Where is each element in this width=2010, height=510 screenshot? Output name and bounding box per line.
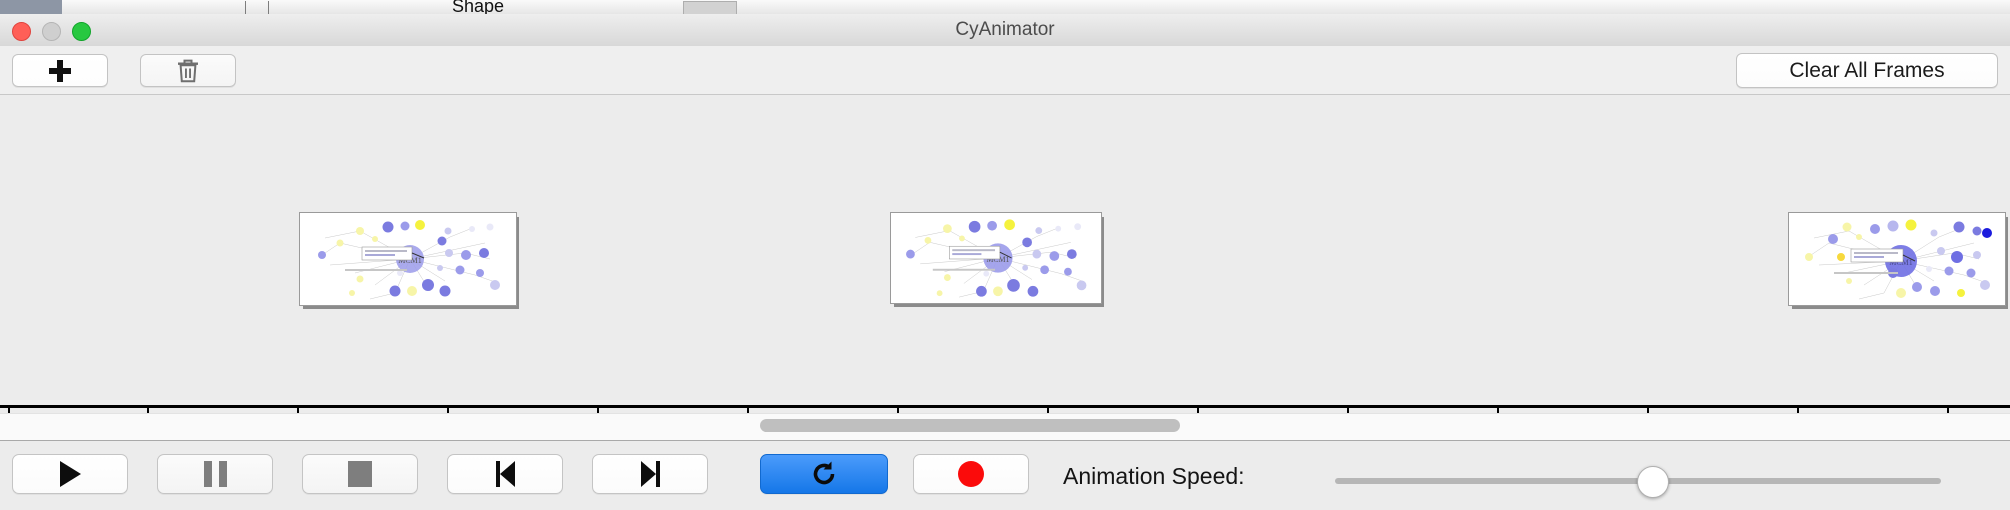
plus-icon: [49, 60, 71, 82]
frame-thumbnail-2[interactable]: MCM1: [890, 212, 1100, 302]
toolbar: Clear All Frames: [0, 46, 2010, 95]
record-button[interactable]: [913, 454, 1029, 494]
frame-thumbnail-3[interactable]: MCM1: [1788, 212, 2004, 304]
animation-speed-slider-thumb[interactable]: [1637, 466, 1669, 498]
delete-frame-button[interactable]: [140, 54, 236, 87]
background-window-segment: [307, 0, 448, 14]
frame-thumbnail-1[interactable]: MCM1: [299, 212, 515, 304]
stop-icon: [348, 461, 372, 487]
background-window-label: Shape: [452, 0, 504, 14]
background-window-segment: [1837, 0, 2010, 14]
cyanimator-window: Shape CyAnimator Clear All Frames: [0, 0, 2010, 510]
skip-next-icon: [641, 461, 660, 487]
loop-icon: [809, 459, 839, 489]
background-window-strip: Shape: [0, 0, 2010, 14]
horizontal-scrollbar-thumb[interactable]: [760, 419, 1180, 432]
title-bar: CyAnimator: [0, 14, 2010, 47]
play-button[interactable]: [12, 454, 128, 494]
window-title: CyAnimator: [0, 14, 2010, 46]
timeline-panel[interactable]: MCM1: [0, 95, 2010, 415]
clear-all-frames-button[interactable]: Clear All Frames: [1736, 53, 1998, 88]
previous-frame-button[interactable]: [447, 454, 563, 494]
next-frame-button[interactable]: [592, 454, 708, 494]
network-thumbnail-graphic: MCM1: [300, 213, 516, 305]
playback-controls: Animation Speed:: [0, 441, 2010, 510]
loop-button[interactable]: [760, 454, 888, 494]
timeline-axis: [0, 405, 2010, 408]
add-frame-button[interactable]: [12, 54, 108, 87]
skip-previous-icon: [496, 461, 515, 487]
background-window-segment: [247, 0, 308, 14]
animation-speed-label: Animation Speed:: [1063, 463, 1245, 490]
network-thumbnail-graphic: MCM1: [891, 213, 1101, 303]
pause-icon: [204, 461, 227, 487]
background-window-segment: [62, 0, 193, 14]
background-window-segment: [192, 0, 248, 14]
stop-button[interactable]: [302, 454, 418, 494]
pause-button[interactable]: [157, 454, 273, 494]
trash-icon: [177, 59, 199, 83]
clear-all-frames-label: Clear All Frames: [1789, 59, 1944, 83]
network-thumbnail-graphic: MCM1: [1789, 213, 2005, 305]
background-window-segment: [777, 0, 1838, 14]
record-icon: [958, 461, 984, 487]
play-icon: [60, 461, 81, 487]
background-window-dark-segment: [0, 0, 62, 14]
